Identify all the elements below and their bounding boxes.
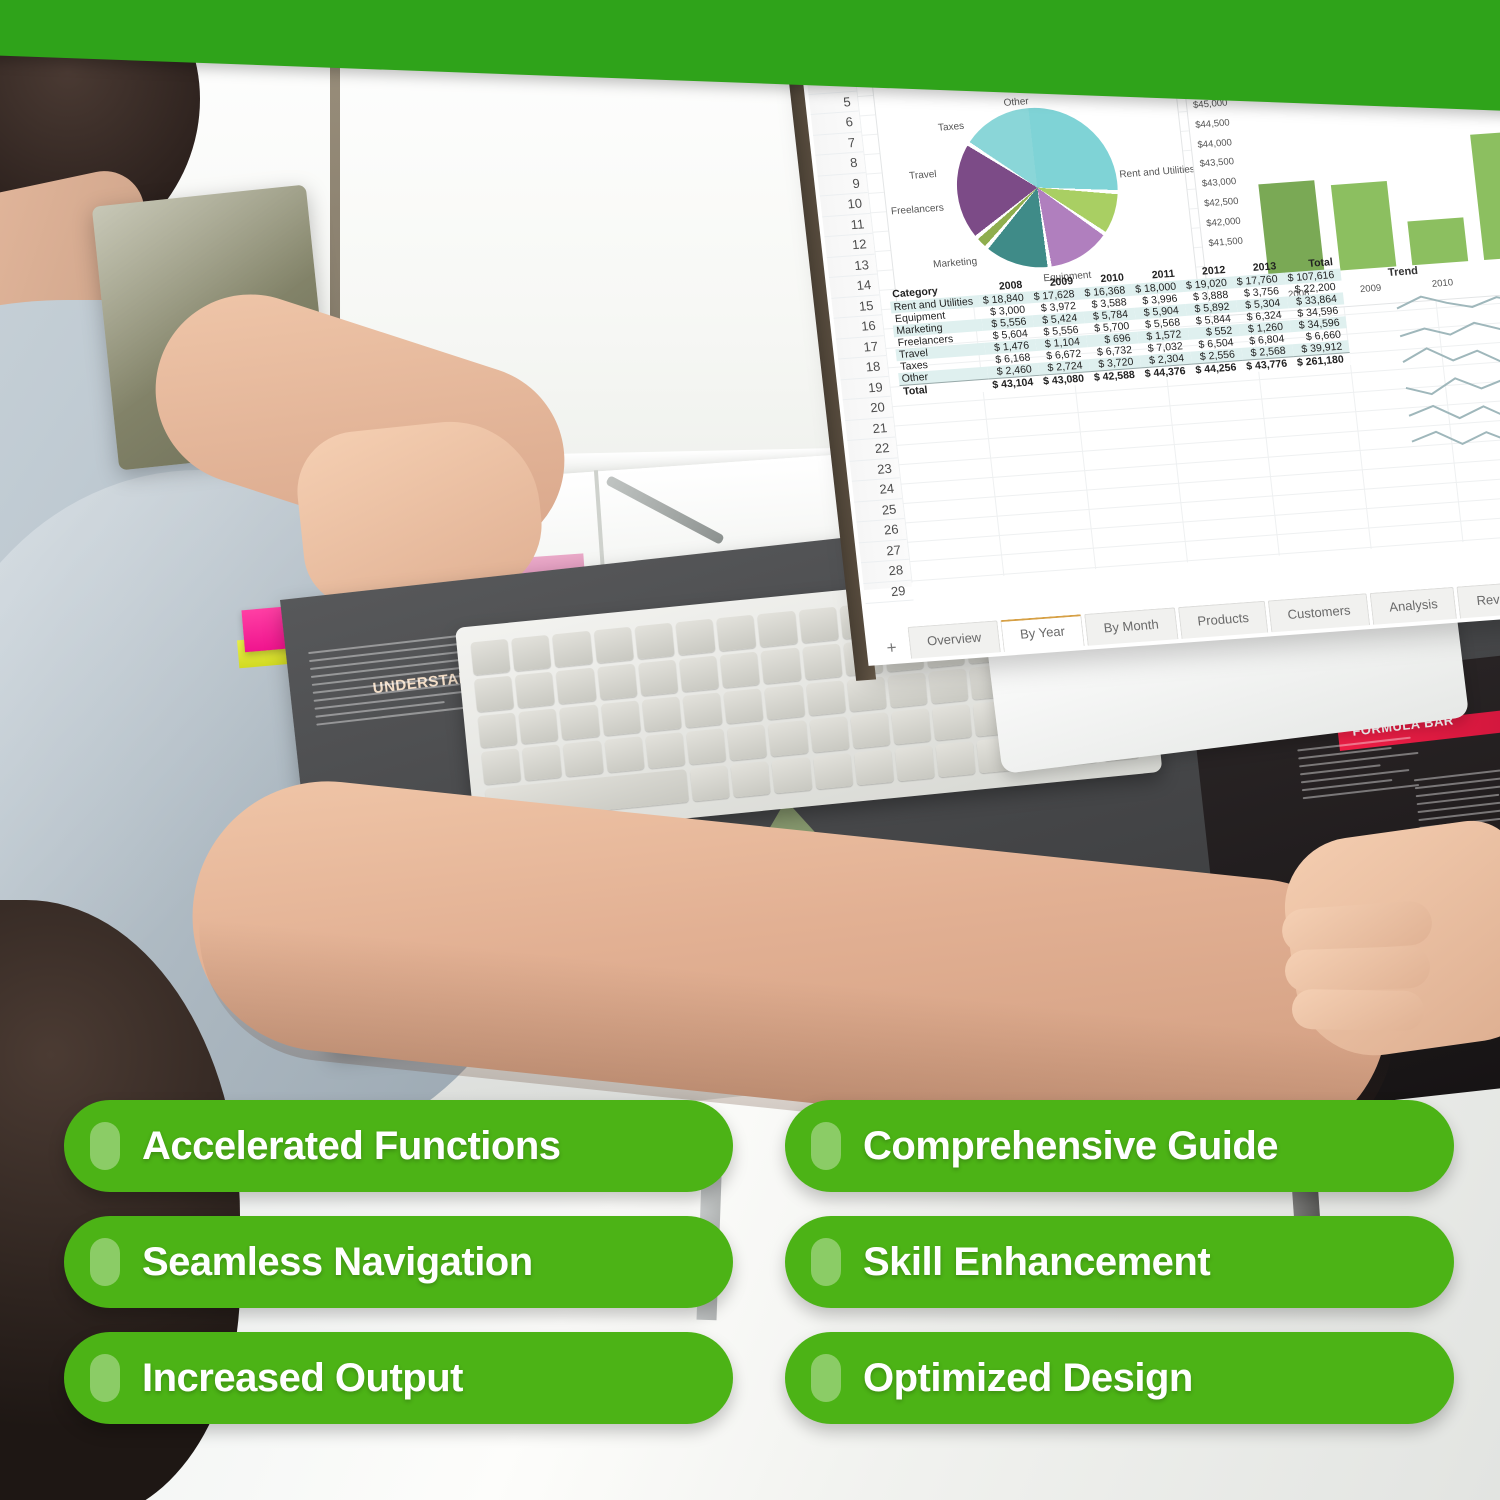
pie-label-travel: Travel bbox=[909, 169, 938, 182]
bar-chart-y-axis: $45,000 $44,500 $44,000 $43,500 $43,000 … bbox=[1193, 98, 1245, 258]
feature-label: Skill Enhancement bbox=[863, 1240, 1210, 1285]
promo-image: UNDERSTANDING COMMON ERRORS FORMULA BAR … bbox=[0, 0, 1500, 1500]
feature-label: Comprehensive Guide bbox=[863, 1124, 1278, 1169]
bar-chart-bars bbox=[1250, 90, 1500, 276]
bullet-dot-icon bbox=[90, 1354, 120, 1402]
feature-label: Seamless Navigation bbox=[142, 1240, 533, 1285]
bullet-dot-icon bbox=[811, 1238, 841, 1286]
finger-3 bbox=[1292, 989, 1425, 1031]
feature-pill-comprehensive-guide[interactable]: Comprehensive Guide bbox=[785, 1100, 1454, 1192]
bullet-dot-icon bbox=[90, 1238, 120, 1286]
y-tick: $45,000 bbox=[1193, 98, 1229, 120]
pie-label-taxes: Taxes bbox=[937, 121, 964, 134]
bullet-dot-icon bbox=[811, 1122, 841, 1170]
bullet-dot-icon bbox=[90, 1122, 120, 1170]
bar-2011 bbox=[1470, 131, 1500, 260]
feature-label: Increased Output bbox=[142, 1356, 463, 1401]
finger-2 bbox=[1284, 945, 1430, 992]
y-tick: $43,000 bbox=[1201, 176, 1237, 198]
feature-label: Optimized Design bbox=[863, 1356, 1193, 1401]
y-tick: $44,000 bbox=[1197, 137, 1233, 159]
row-header[interactable]: 29 bbox=[863, 580, 913, 604]
feature-pill-grid: Accelerated Functions Comprehensive Guid… bbox=[64, 1100, 1454, 1424]
add-sheet-button[interactable]: + bbox=[884, 637, 908, 660]
sheet-tab-overview[interactable]: Overview bbox=[907, 620, 1001, 658]
y-tick: $44,500 bbox=[1195, 117, 1231, 139]
pie-chart bbox=[949, 102, 1127, 273]
sheet-tab-analysis[interactable]: Analysis bbox=[1370, 587, 1458, 625]
feature-pill-skill-enhancement[interactable]: Skill Enhancement bbox=[785, 1216, 1454, 1308]
feature-label: Accelerated Functions bbox=[142, 1124, 561, 1169]
pie-label-freelancers: Freelancers bbox=[890, 203, 944, 218]
feature-pill-accelerated-functions[interactable]: Accelerated Functions bbox=[64, 1100, 733, 1192]
sheet-tab-by-month[interactable]: By Month bbox=[1084, 607, 1178, 645]
feature-pill-increased-output[interactable]: Increased Output bbox=[64, 1332, 733, 1424]
sparkline-group bbox=[1389, 266, 1500, 458]
feature-pill-optimized-design[interactable]: Optimized Design bbox=[785, 1332, 1454, 1424]
pie-label-other: Other bbox=[1003, 96, 1029, 109]
y-tick: $41,500 bbox=[1208, 235, 1244, 257]
y-tick: $43,500 bbox=[1199, 157, 1235, 179]
bar-2010 bbox=[1407, 217, 1468, 265]
y-tick: $42,000 bbox=[1206, 216, 1242, 238]
pie-label-marketing: Marketing bbox=[933, 256, 978, 270]
sheet-tab-by-year[interactable]: By Year bbox=[1000, 614, 1084, 652]
feature-pill-seamless-navigation[interactable]: Seamless Navigation bbox=[64, 1216, 733, 1308]
pie-label-rent: Rent and Utilities bbox=[1119, 166, 1166, 180]
sheet-tab-customers[interactable]: Customers bbox=[1268, 593, 1370, 632]
bar-2009 bbox=[1331, 181, 1396, 271]
sheet-tab-revenue[interactable]: Revenue b bbox=[1457, 579, 1500, 618]
y-tick: $42,500 bbox=[1204, 196, 1240, 218]
sheet-tab-products[interactable]: Products bbox=[1178, 601, 1269, 639]
bullet-dot-icon bbox=[811, 1354, 841, 1402]
